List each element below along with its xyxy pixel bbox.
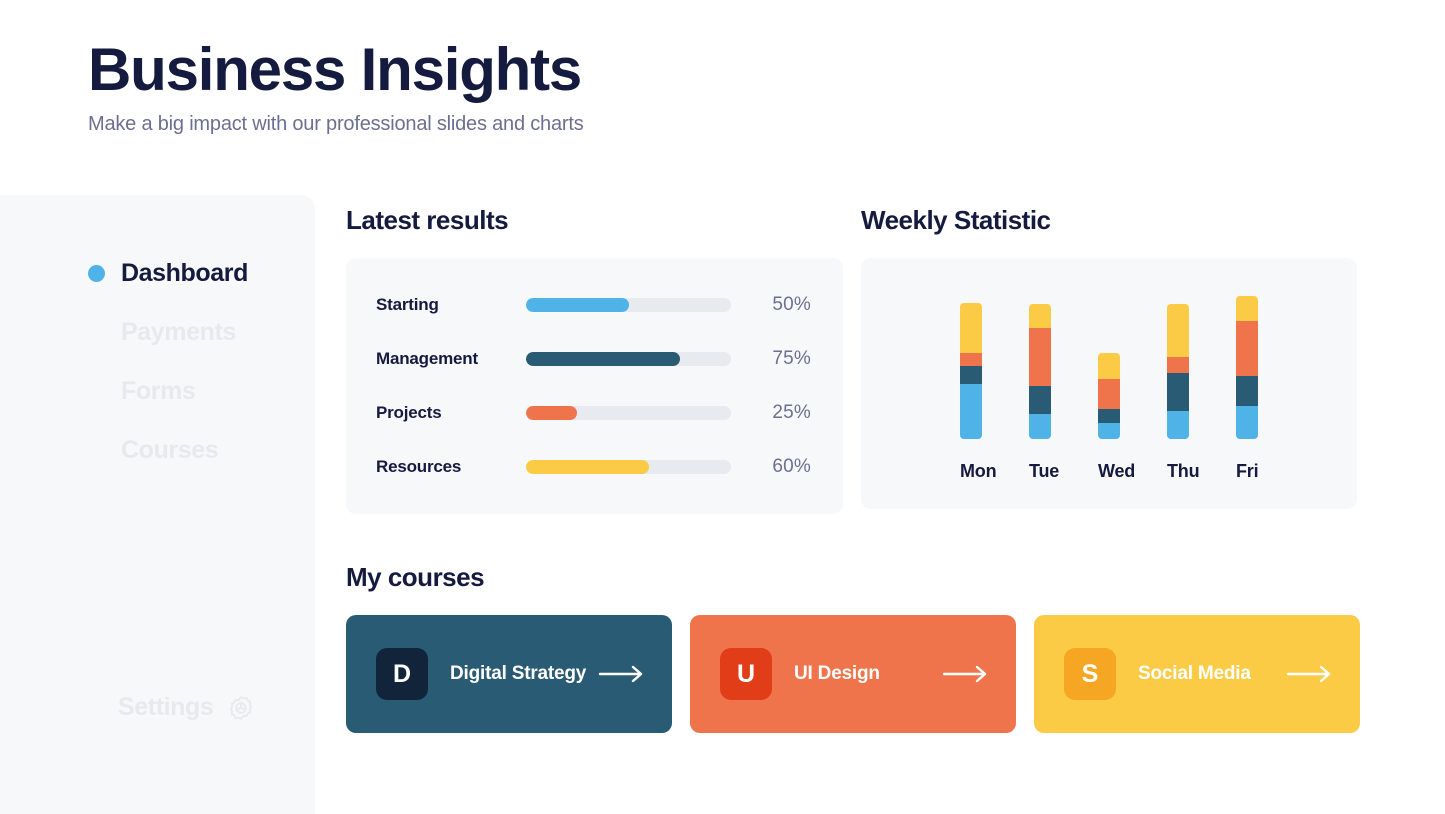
x-axis-label: Fri: [1236, 461, 1258, 482]
weekly-statistic-section: Weekly Statistic MonTueWedThuFri: [861, 205, 1357, 514]
bar-column: [960, 284, 982, 439]
page-header: Business Insights Make a big impact with…: [88, 38, 584, 136]
bar-segment-blue: [1098, 423, 1120, 439]
main-content: Latest results Starting 50% Management: [346, 205, 1366, 733]
progress-value: 60%: [731, 456, 811, 478]
bullet-placeholder-icon: [88, 324, 105, 341]
progress-label: Starting: [376, 295, 526, 315]
bar-segment-yellow: [1098, 353, 1120, 379]
settings-label: Settings: [118, 693, 213, 722]
dashboard-page: Business Insights Make a big impact with…: [0, 0, 1445, 814]
weekly-statistic-panel: MonTueWedThuFri: [861, 258, 1357, 509]
progress-track: [526, 352, 731, 366]
progress-fill: [526, 352, 680, 366]
stacked-bar: [1236, 296, 1258, 439]
sidebar-item-label: Dashboard: [121, 259, 248, 288]
chart-x-axis-labels: MonTueWedThuFri: [861, 461, 1357, 482]
bar-segment-yellow: [1236, 296, 1258, 321]
progress-track: [526, 460, 731, 474]
latest-results-title: Latest results: [346, 205, 843, 236]
bar-segment-orange: [960, 353, 982, 366]
course-card-label: Social Media: [1138, 663, 1251, 685]
progress-fill: [526, 406, 577, 420]
x-axis-label: Wed: [1098, 461, 1120, 482]
progress-fill: [526, 298, 629, 312]
course-card-social-media[interactable]: SSocial Media: [1034, 615, 1360, 733]
progress-label: Projects: [376, 403, 526, 423]
my-courses-title: My courses: [346, 562, 1366, 593]
bar-segment-blue: [960, 384, 982, 439]
sidebar-item-payments[interactable]: Payments: [88, 316, 308, 348]
stacked-bar: [960, 303, 982, 439]
progress-row: Resources 60%: [376, 450, 811, 484]
bar-segment-teal: [1236, 376, 1258, 406]
sidebar-item-dashboard[interactable]: Dashboard: [88, 257, 308, 289]
x-axis-label: Tue: [1029, 461, 1051, 482]
weekly-statistic-title: Weekly Statistic: [861, 205, 1357, 236]
stacked-bar: [1167, 304, 1189, 439]
bar-segment-orange: [1029, 328, 1051, 386]
page-subtitle: Make a big impact with our professional …: [88, 113, 584, 136]
bullet-placeholder-icon: [88, 383, 105, 400]
bar-segment-teal: [960, 366, 982, 384]
bar-segment-orange: [1098, 379, 1120, 409]
bar-segment-yellow: [1029, 304, 1051, 328]
arrow-right-icon[interactable]: [1286, 664, 1332, 684]
top-row: Latest results Starting 50% Management: [346, 205, 1366, 514]
latest-results-section: Latest results Starting 50% Management: [346, 205, 843, 514]
stacked-bar: [1029, 304, 1051, 439]
bar-segment-blue: [1236, 406, 1258, 439]
sidebar: Dashboard Payments Forms Courses Setting…: [0, 195, 315, 814]
bar-segment-teal: [1167, 373, 1189, 411]
stacked-bar: [1098, 353, 1120, 439]
progress-row: Projects 25%: [376, 396, 811, 430]
bullet-placeholder-icon: [88, 442, 105, 459]
course-badge: S: [1064, 648, 1116, 700]
sidebar-item-courses[interactable]: Courses: [88, 434, 308, 466]
bar-column: [1167, 284, 1189, 439]
progress-fill: [526, 460, 649, 474]
page-title: Business Insights: [88, 38, 584, 101]
stacked-bar-chart: [861, 284, 1357, 439]
progress-label: Management: [376, 349, 526, 369]
progress-row: Management 75%: [376, 342, 811, 376]
x-axis-label: Thu: [1167, 461, 1189, 482]
bar-segment-teal: [1029, 386, 1051, 414]
bar-column: [1236, 284, 1258, 439]
bar-segment-blue: [1167, 411, 1189, 439]
course-badge: U: [720, 648, 772, 700]
course-card-digital-strategy[interactable]: DDigital Strategy: [346, 615, 672, 733]
bar-segment-teal: [1098, 409, 1120, 423]
progress-track: [526, 406, 731, 420]
progress-value: 25%: [731, 402, 811, 424]
progress-track: [526, 298, 731, 312]
sidebar-item-label: Courses: [121, 436, 218, 465]
sidebar-item-label: Forms: [121, 377, 195, 406]
bar-segment-orange: [1167, 357, 1189, 373]
active-dot-icon: [88, 265, 105, 282]
course-card-ui-design[interactable]: UUI Design: [690, 615, 1016, 733]
progress-row: Starting 50%: [376, 288, 811, 322]
bar-column: [1029, 284, 1051, 439]
gear-icon: [227, 694, 255, 722]
arrow-right-icon[interactable]: [598, 664, 644, 684]
x-axis-label: Mon: [960, 461, 982, 482]
bar-segment-yellow: [960, 303, 982, 353]
bar-segment-orange: [1236, 321, 1258, 376]
progress-value: 75%: [731, 348, 811, 370]
sidebar-nav: Dashboard Payments Forms Courses: [88, 257, 308, 493]
course-badge: D: [376, 648, 428, 700]
progress-label: Resources: [376, 457, 526, 477]
bar-segment-yellow: [1167, 304, 1189, 357]
course-card-list: DDigital StrategyUUI DesignSSocial Media: [346, 615, 1366, 733]
progress-value: 50%: [731, 294, 811, 316]
bar-column: [1098, 284, 1120, 439]
arrow-right-icon[interactable]: [942, 664, 988, 684]
bar-segment-blue: [1029, 414, 1051, 439]
sidebar-item-settings[interactable]: Settings: [118, 693, 255, 722]
sidebar-item-forms[interactable]: Forms: [88, 375, 308, 407]
course-card-label: Digital Strategy: [450, 663, 586, 685]
sidebar-item-label: Payments: [121, 318, 236, 347]
course-card-label: UI Design: [794, 663, 880, 685]
latest-results-panel: Starting 50% Management 75%: [346, 258, 843, 514]
